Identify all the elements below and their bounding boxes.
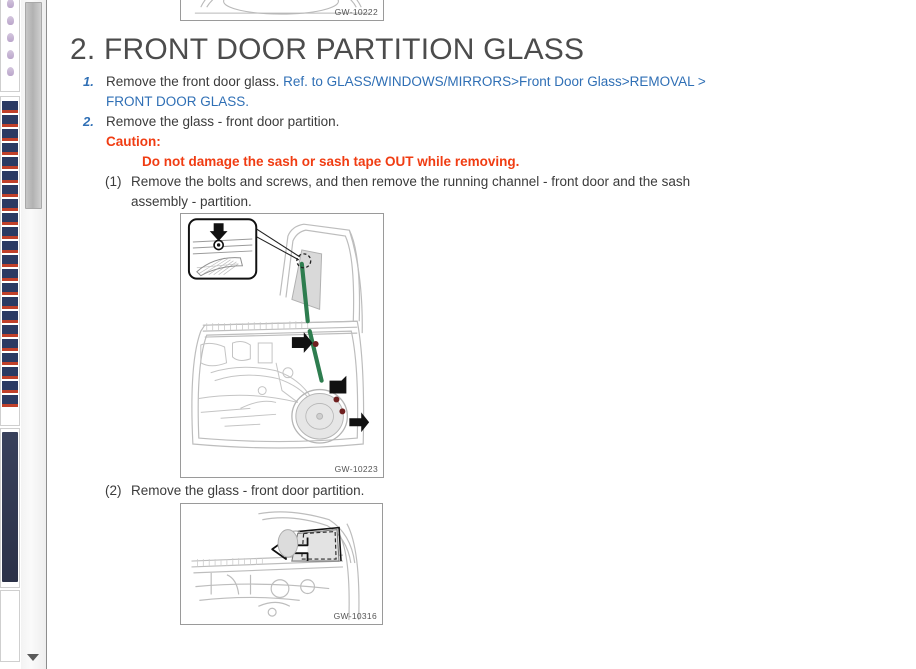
thumbnail-item[interactable] (0, 96, 20, 426)
thumbnail-item[interactable] (0, 0, 20, 92)
step-1: 1. Remove the front door glass. Ref. to … (47, 72, 907, 112)
chevron-down-icon[interactable] (27, 654, 39, 661)
substep-number: (1) (105, 172, 122, 192)
vertical-scrollbar[interactable] (21, 0, 47, 669)
figure-caption: GW-10316 (334, 611, 377, 621)
thumbnail-icon (1, 0, 19, 12)
page-title: 2. FRONT DOOR PARTITION GLASS (70, 33, 584, 67)
thumbnail-icon (1, 29, 19, 46)
document-page: 2. FRONT DOOR PARTITION GLASS 1. Remove … (47, 0, 916, 669)
procedure-steps: 1. Remove the front door glass. Ref. to … (47, 72, 907, 212)
step-2: 2. Remove the glass - front door partiti… (47, 112, 907, 132)
thumbnail-icon (1, 46, 19, 63)
thumbnail-icon (1, 12, 19, 29)
figure-caption: GW-10223 (335, 464, 378, 474)
document-viewer: 2. FRONT DOOR PARTITION GLASS 1. Remove … (0, 0, 916, 669)
substep-text: Remove the glass - front door partition. (131, 481, 747, 501)
substep-2: (2) Remove the glass - front door partit… (47, 481, 747, 501)
step-number: 1. (83, 72, 94, 92)
caution-label: Caution: (106, 132, 907, 152)
figure-gw-10316: GW-10316 (180, 503, 383, 625)
partition-glass-artwork (181, 504, 382, 624)
step-text: Remove the front door glass. Ref. to GLA… (106, 72, 907, 112)
step-1-body: Remove the front door glass. (106, 74, 283, 89)
thumbnail-icon (1, 63, 19, 80)
figure-gw-10222: GW-10222 (180, 0, 384, 21)
step-number: 2. (83, 112, 94, 132)
step-text: Remove the glass - front door partition. (106, 112, 907, 132)
thumbnail-rail[interactable] (0, 0, 20, 669)
caution-text: Do not damage the sash or sash tape OUT … (142, 152, 907, 172)
figure-caption: GW-10222 (335, 7, 378, 17)
thumbnail-item[interactable] (0, 428, 20, 588)
figure-gw-10223: GW-10223 (180, 213, 384, 478)
thumbnail-item[interactable] (0, 590, 20, 662)
substep-1: (1) Remove the bolts and screws, and the… (47, 172, 907, 212)
scrollbar-thumb[interactable] (25, 2, 42, 209)
substep-number: (2) (105, 481, 122, 501)
substep-text: Remove the bolts and screws, and then re… (131, 172, 907, 212)
door-panel-artwork (181, 214, 383, 477)
